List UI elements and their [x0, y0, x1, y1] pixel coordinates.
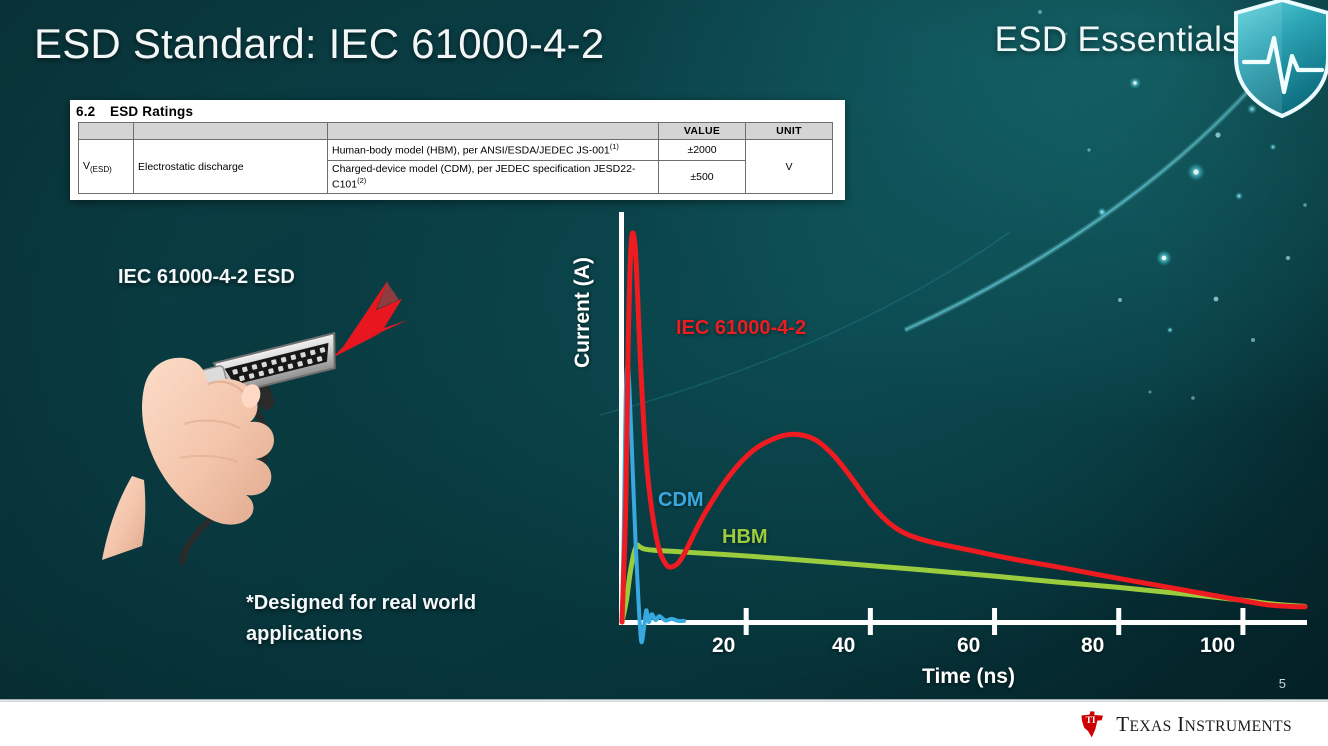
col-symbol [79, 123, 134, 140]
footnote-1: (1) [610, 142, 619, 151]
cell-symbol: V(ESD) [79, 140, 134, 194]
page-title: ESD Standard: IEC 61000-4-2 [34, 20, 604, 68]
svg-text:TI: TI [1086, 716, 1096, 726]
parameter-cdm-text: Charged-device model (CDM), per JEDEC sp… [332, 163, 635, 191]
hand-icon [102, 358, 274, 560]
illustration-note: *Designed for real world applications [246, 588, 546, 650]
texas-instruments-logo: TI TEXAS INSTRUMENTS [1077, 709, 1292, 739]
cell-value-hbm: ±2000 [659, 140, 746, 161]
symbol-subscript: (ESD) [90, 165, 112, 174]
section-number: 6.2 [76, 104, 110, 119]
x-tick-mark [744, 608, 749, 635]
slide-root: ESD Standard: IEC 61000-4-2 ESD Essentia… [0, 0, 1328, 746]
cell-description: Electrostatic discharge [134, 140, 328, 194]
ti-texas-mark-icon: TI [1077, 709, 1107, 739]
page-number: 5 [1279, 676, 1286, 691]
cell-unit: V [746, 140, 833, 194]
table-header-row: VALUE UNIT [79, 123, 833, 140]
series-label-hbm: HBM [722, 526, 768, 549]
chart-axes [619, 212, 1307, 625]
cell-value-cdm: ±500 [659, 160, 746, 194]
x-tick-mark [992, 608, 997, 635]
ti-wordmark: TEXAS INSTRUMENTS [1116, 712, 1292, 737]
brand-title: ESD Essentials [995, 20, 1240, 60]
parameter-hbm-text: Human-body model (HBM), per ANSI/ESDA/JE… [332, 145, 610, 157]
ti-word-nstruments: NSTRUMENTS [1185, 718, 1292, 735]
chart-line-hbm [622, 545, 1305, 622]
section-title: ESD Ratings [110, 104, 193, 119]
x-tick-mark [1240, 608, 1245, 635]
lightning-bolt-icon [332, 280, 408, 358]
table-section-heading: 6.2ESD Ratings [70, 100, 845, 122]
series-label-cdm: CDM [658, 489, 704, 512]
chart-series-group [622, 233, 1305, 642]
cell-parameter-cdm: Charged-device model (CDM), per JEDEC sp… [328, 160, 659, 194]
col-parameter [328, 123, 659, 140]
col-description [134, 123, 328, 140]
table-row: V(ESD) Electrostatic discharge Human-bod… [79, 140, 833, 161]
x-tick-mark [1116, 608, 1121, 635]
col-unit: UNIT [746, 123, 833, 140]
ti-word-exas: EXAS [1130, 718, 1172, 735]
series-label-iec: IEC 61000-4-2 [676, 317, 806, 340]
chart-line-iec-61000-4-2 [622, 233, 1305, 622]
ti-word-i: I [1172, 712, 1185, 736]
symbol-text: V [83, 160, 90, 172]
esd-waveform-chart [570, 200, 1310, 700]
esd-ratings-table: 6.2ESD Ratings VALUE UNIT V(ESD) Electro… [70, 100, 845, 200]
ti-word-t: T [1116, 712, 1129, 736]
x-tick-mark [868, 608, 873, 635]
footnote-2: (2) [357, 176, 366, 185]
cell-parameter-hbm: Human-body model (HBM), per ANSI/ESDA/JE… [328, 140, 659, 161]
hand-connector-illustration [88, 262, 438, 572]
col-value: VALUE [659, 123, 746, 140]
shield-heartbeat-icon [1228, 0, 1328, 121]
